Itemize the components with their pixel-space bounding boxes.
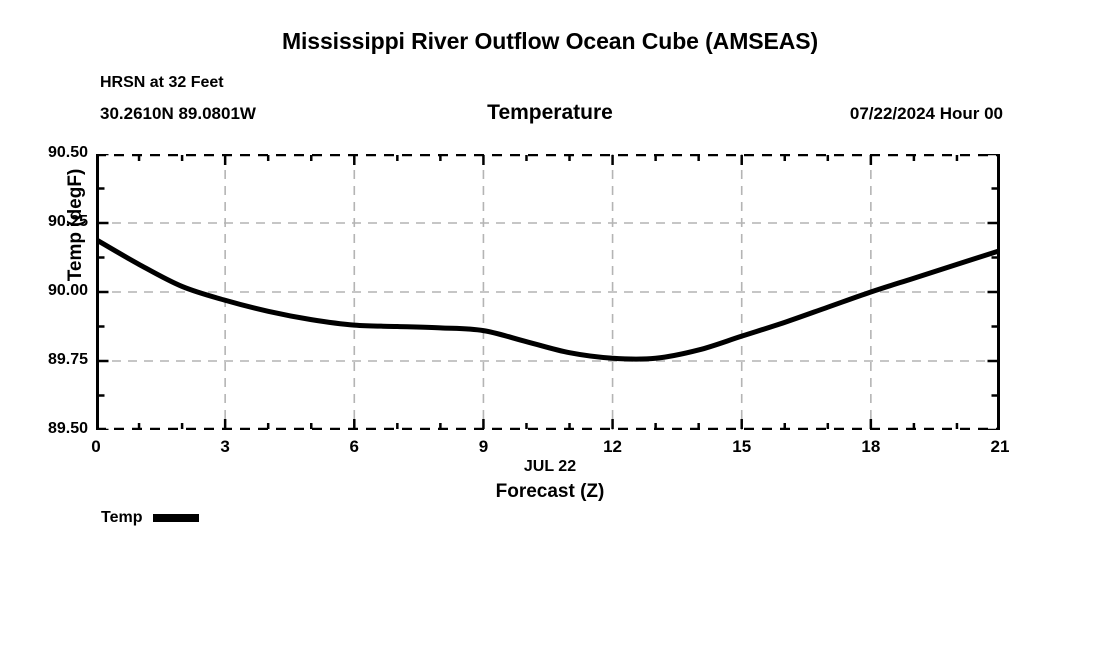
page-title: Mississippi River Outflow Ocean Cube (AM… <box>0 28 1100 55</box>
chart-legend: Temp <box>101 509 199 527</box>
chart-page: Mississippi River Outflow Ocean Cube (AM… <box>0 0 1100 650</box>
x-axis-tick-label: 3 <box>195 437 255 457</box>
y-axis-tick-label: 90.00 <box>0 282 88 300</box>
x-axis-tick-label: 9 <box>453 437 513 457</box>
x-axis-tick-label: 15 <box>712 437 772 457</box>
x-axis-tick-label: 21 <box>970 437 1030 457</box>
y-axis-tick-label: 89.50 <box>0 420 88 438</box>
header-datetime-label: 07/22/2024 Hour 00 <box>850 104 1003 124</box>
x-axis-day-label: JUL 22 <box>0 458 1100 476</box>
x-axis-tick-label: 18 <box>841 437 901 457</box>
x-axis-tick-label: 6 <box>324 437 384 457</box>
plot-area <box>96 154 1000 430</box>
x-axis-label: Forecast (Z) <box>0 481 1100 503</box>
y-axis-tick-label: 90.25 <box>0 213 88 231</box>
legend-item-label: Temp <box>101 509 142 527</box>
y-axis-tick-label: 90.50 <box>0 144 88 162</box>
temperature-line-chart <box>96 154 1000 430</box>
header-depth-label: HRSN at 32 Feet <box>100 74 224 92</box>
x-axis-tick-label: 0 <box>66 437 126 457</box>
legend-color-swatch <box>153 514 199 522</box>
x-axis-tick-label: 12 <box>583 437 643 457</box>
y-axis-tick-label: 89.75 <box>0 351 88 369</box>
